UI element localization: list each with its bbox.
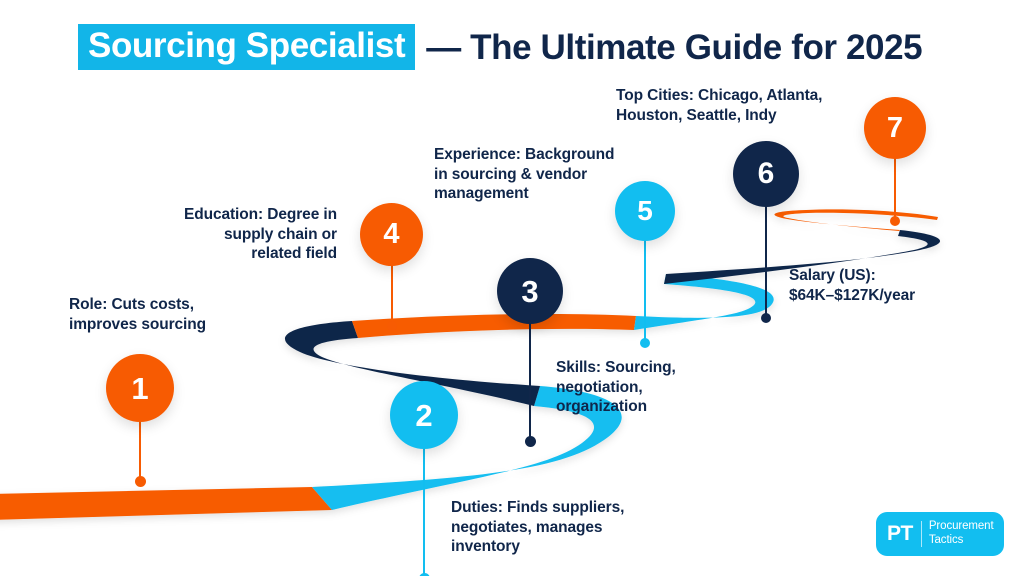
step-stem-dot-5 <box>640 338 650 348</box>
step-stem-2 <box>423 447 425 576</box>
step-number-1: 1 <box>131 373 148 404</box>
step-stem-dot-6 <box>761 313 771 323</box>
logo-monogram: PT <box>876 522 913 546</box>
logo-divider <box>921 521 922 547</box>
infographic-canvas: Sourcing Specialist — The Ultimate Guide… <box>0 0 1024 576</box>
step-number-6: 6 <box>758 159 775 189</box>
brand-logo[interactable]: PT Procurement Tactics <box>876 512 1004 556</box>
step-note-4: Education: Degree in supply chain or rel… <box>115 205 337 264</box>
step-stem-3 <box>529 322 531 442</box>
step-bubble-6[interactable]: 6 <box>733 141 799 207</box>
step-number-3: 3 <box>521 276 538 307</box>
logo-word-line2: Tactics <box>929 534 994 548</box>
step-note-5: Experience: Background in sourcing & ven… <box>434 145 664 204</box>
step-stem-4 <box>391 264 393 326</box>
ribbon-segment-orange-far <box>774 209 938 231</box>
step-stem-dot-7 <box>890 216 900 226</box>
step-number-7: 7 <box>887 114 903 143</box>
logo-wordmark: Procurement Tactics <box>929 520 994 548</box>
step-stem-1 <box>139 420 141 482</box>
step-stem-dot-1 <box>135 476 146 487</box>
step-note-6: Top Cities: Chicago, Atlanta, Houston, S… <box>616 86 884 125</box>
step-stem-6 <box>765 205 767 319</box>
ribbon-segment-cyan-upper <box>634 274 774 330</box>
step-number-2: 2 <box>415 400 432 431</box>
step-note-2: Duties: Finds suppliers, negotiates, man… <box>451 498 711 557</box>
step-bubble-3[interactable]: 3 <box>497 258 563 324</box>
step-stem-7 <box>894 157 896 221</box>
step-note-7: Salary (US): $64K–$127K/year <box>789 266 999 305</box>
ribbon-segment-orange-front <box>0 487 332 520</box>
logo-word-line1: Procurement <box>929 520 994 534</box>
step-note-3: Skills: Sourcing, negotiation, organizat… <box>556 358 776 417</box>
step-stem-5 <box>644 239 646 343</box>
step-bubble-1[interactable]: 1 <box>106 354 174 422</box>
step-stem-dot-4 <box>387 321 397 331</box>
step-note-1: Role: Cuts costs, improves sourcing <box>69 295 299 334</box>
step-bubble-2[interactable]: 2 <box>390 381 458 449</box>
step-stem-dot-3 <box>525 436 536 447</box>
step-number-4: 4 <box>383 220 399 249</box>
step-bubble-4[interactable]: 4 <box>360 203 423 266</box>
